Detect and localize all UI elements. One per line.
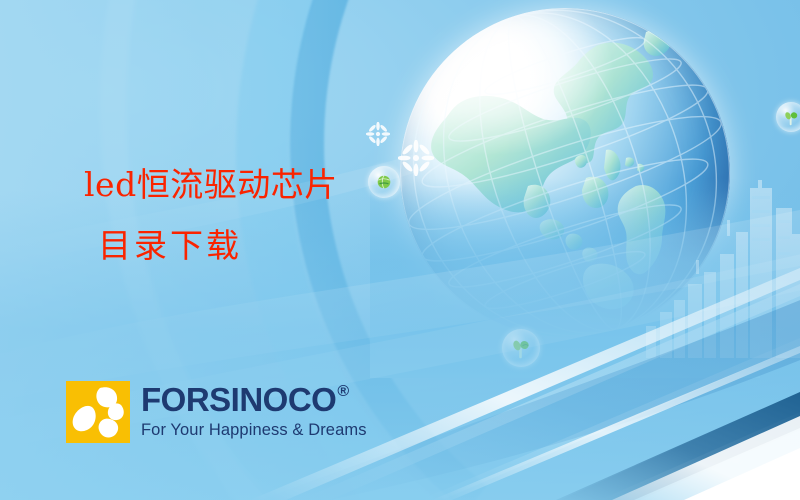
registered-trademark-icon: ®	[337, 384, 348, 400]
headline-line-1: led恒流驱动芯片	[84, 164, 424, 207]
headline-line-2: 目录下载	[98, 225, 424, 268]
logo-wordmark: FORSINOCO®	[141, 383, 367, 416]
green-leaf-icon	[783, 109, 800, 126]
banner-canvas: led恒流驱动芯片 目录下载 FORSINOCO®	[0, 0, 800, 500]
pinwheel-petals-icon	[66, 381, 130, 443]
logo-tagline: For Your Happiness & Dreams	[141, 421, 367, 440]
logo-text-block: FORSINOCO® For Your Happiness & Dreams	[141, 381, 367, 440]
logo-wordmark-text: FORSINOCO	[141, 383, 336, 416]
headline-block: led恒流驱动芯片 目录下载	[84, 164, 424, 268]
bubble-green-leaf-right	[776, 102, 800, 132]
pinwheel-flower-icon	[66, 381, 130, 443]
forsinoco-logo[interactable]: FORSINOCO® For Your Happiness & Dreams	[66, 381, 367, 443]
